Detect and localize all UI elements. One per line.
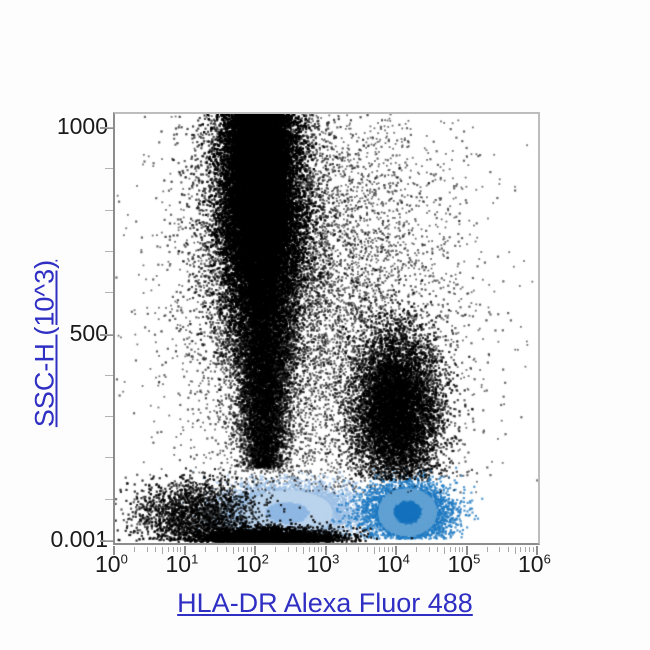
y-minor-tick	[105, 334, 113, 335]
x-major-tick	[536, 546, 538, 555]
y-minor-tick	[105, 127, 113, 128]
x-minor-tick	[529, 547, 530, 552]
x-minor-tick	[217, 547, 218, 552]
x-minor-tick	[147, 547, 148, 552]
x-minor-tick	[508, 547, 509, 552]
x-tick-mantissa: 10	[448, 551, 474, 577]
x-minor-tick	[455, 547, 456, 552]
x-tick-label: 100	[95, 553, 128, 576]
x-minor-tick	[487, 547, 488, 552]
x-axis-ticks: 100101102103104105106	[0, 553, 650, 593]
x-tick-label: 105	[448, 553, 481, 576]
x-major-tick	[395, 546, 397, 555]
x-minor-tick	[251, 547, 252, 552]
x-minor-tick	[392, 547, 393, 552]
y-minor-tick	[105, 540, 113, 541]
x-minor-tick	[358, 547, 359, 552]
x-tick-exponent: 2	[262, 551, 269, 566]
x-minor-tick	[450, 547, 451, 552]
y-minor-tick	[105, 210, 113, 211]
x-minor-tick	[173, 547, 174, 552]
x-major-tick	[254, 546, 256, 555]
x-minor-tick	[374, 547, 375, 554]
y-minor-tick	[105, 168, 113, 169]
x-minor-tick	[309, 547, 310, 552]
flow-cytometry-plot: 10005000.001 100101102103104105106 HLA-D…	[0, 0, 650, 650]
x-minor-tick	[314, 547, 315, 552]
x-tick-mantissa: 10	[166, 551, 192, 577]
x-minor-tick	[247, 547, 248, 552]
x-minor-tick	[525, 547, 526, 552]
x-tick-exponent: 0	[121, 551, 128, 566]
x-minor-tick	[388, 547, 389, 552]
x-minor-tick	[238, 547, 239, 552]
x-minor-tick	[177, 547, 178, 552]
x-minor-tick	[520, 547, 521, 552]
x-tick-exponent: 1	[191, 551, 198, 566]
x-minor-tick	[346, 547, 347, 552]
x-minor-tick	[515, 547, 516, 554]
x-minor-tick	[275, 547, 276, 552]
x-tick-label: 103	[307, 553, 340, 576]
x-minor-tick	[416, 547, 417, 552]
x-minor-tick	[303, 547, 304, 554]
x-minor-tick	[384, 547, 385, 552]
x-minor-tick	[321, 547, 322, 552]
x-major-tick	[466, 546, 468, 555]
x-major-tick	[325, 546, 327, 555]
y-minor-tick	[105, 499, 113, 500]
x-minor-tick	[205, 547, 206, 552]
x-tick-mantissa: 10	[236, 551, 262, 577]
y-minor-tick	[105, 292, 113, 293]
x-axis-title: HLA-DR Alexa Fluor 488	[0, 588, 650, 619]
y-minor-tick	[105, 375, 113, 376]
y-minor-tick	[105, 251, 113, 252]
x-minor-tick	[296, 547, 297, 552]
x-tick-label: 106	[518, 553, 551, 576]
x-tick-exponent: 4	[403, 551, 410, 566]
x-minor-tick	[233, 547, 234, 554]
x-tick-label: 101	[166, 553, 199, 576]
y-minor-tick	[105, 457, 113, 458]
x-minor-tick	[429, 547, 430, 552]
x-tick-mantissa: 10	[95, 551, 121, 577]
x-tick-exponent: 6	[544, 551, 551, 566]
x-minor-tick	[288, 547, 289, 552]
x-minor-tick	[318, 547, 319, 552]
x-minor-tick	[226, 547, 227, 552]
y-minor-tick	[105, 416, 113, 417]
x-tick-mantissa: 10	[518, 551, 544, 577]
x-minor-tick	[444, 547, 445, 554]
x-minor-tick	[533, 547, 534, 552]
x-minor-tick	[180, 547, 181, 552]
x-minor-tick	[155, 547, 156, 552]
x-tick-mantissa: 10	[377, 551, 403, 577]
x-minor-tick	[168, 547, 169, 552]
x-minor-tick	[243, 547, 244, 552]
x-major-tick	[113, 546, 115, 555]
y-axis-title-wrapper: SSC-H (10^3)	[30, 144, 61, 544]
x-minor-tick	[162, 547, 163, 554]
x-minor-tick	[499, 547, 500, 552]
y-axis-title: SSC-H (10^3)	[30, 260, 60, 427]
x-minor-tick	[459, 547, 460, 552]
x-major-tick	[184, 546, 186, 555]
x-minor-tick	[437, 547, 438, 552]
x-tick-label: 104	[377, 553, 410, 576]
x-minor-tick	[462, 547, 463, 552]
plot-area	[113, 112, 540, 545]
x-tick-exponent: 5	[473, 551, 480, 566]
x-minor-tick	[379, 547, 380, 552]
x-tick-label: 102	[236, 553, 269, 576]
x-minor-tick	[367, 547, 368, 552]
x-minor-tick	[134, 547, 135, 552]
x-tick-exponent: 3	[332, 551, 339, 566]
x-tick-mantissa: 10	[307, 551, 333, 577]
scatter-canvas	[115, 114, 540, 545]
